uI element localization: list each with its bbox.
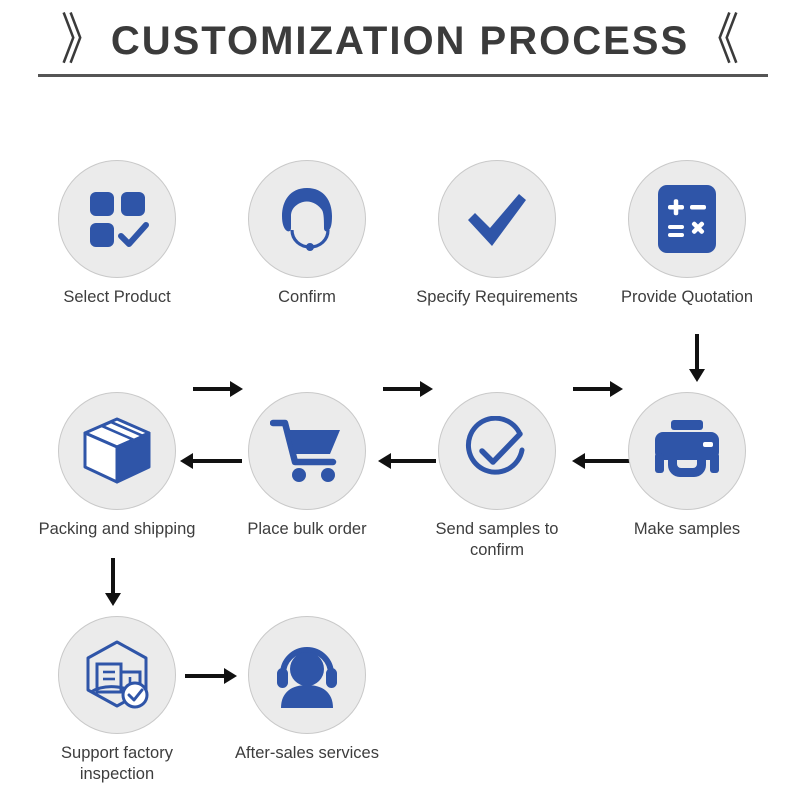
factory-inspection-icon xyxy=(80,639,154,711)
flow-step-send-samples-to-confirm[interactable]: Send samples to confirm xyxy=(412,392,582,561)
flow-step-select-product[interactable]: Select Product xyxy=(32,160,202,308)
flow-step-confirm[interactable]: Confirm xyxy=(222,160,392,308)
support-agent-icon xyxy=(270,182,344,256)
flow-step-place-bulk-order[interactable]: Place bulk order xyxy=(222,392,392,540)
left-chevron-ornament-icon: 》 xyxy=(61,14,105,69)
step-icon-circle xyxy=(248,392,366,510)
step-icon-circle xyxy=(248,160,366,278)
flow-step-label: Make samples xyxy=(602,519,772,540)
flow-step-label: Support factory inspection xyxy=(32,743,202,785)
flow-step-packing-and-shipping[interactable]: Packing and shipping xyxy=(32,392,202,540)
page-title: CUSTOMIZATION PROCESS xyxy=(111,19,689,64)
grid-check-icon xyxy=(84,186,150,252)
flow-step-label: Confirm xyxy=(222,287,392,308)
flow-step-specify-requirements[interactable]: Specify Requirements xyxy=(412,160,582,308)
printer-icon xyxy=(651,419,723,483)
title-divider xyxy=(38,74,768,77)
flow-step-label: Packing and shipping xyxy=(32,519,202,540)
flow-step-label: Select Product xyxy=(32,287,202,308)
flow-step-support-factory-inspection[interactable]: Support factory inspection xyxy=(32,616,202,785)
page-header: 》 CUSTOMIZATION PROCESS 《 xyxy=(0,0,800,92)
flow-step-after-sales-services[interactable]: After-sales services xyxy=(222,616,392,764)
flow-step-label: Send samples to confirm xyxy=(412,519,582,561)
row2-to-row3-connector xyxy=(103,558,123,606)
step-icon-circle xyxy=(438,392,556,510)
step-icon-circle xyxy=(438,160,556,278)
right-chevron-ornament-icon: 《 xyxy=(695,14,739,69)
flow-step-make-samples[interactable]: Make samples xyxy=(602,392,772,540)
package-box-icon xyxy=(80,416,154,486)
title-row: 》 CUSTOMIZATION PROCESS 《 xyxy=(0,12,800,70)
circle-check-icon xyxy=(462,416,532,486)
flow-step-label: After-sales services xyxy=(222,743,392,764)
step-icon-circle xyxy=(248,616,366,734)
row1-to-row2-connector xyxy=(687,334,707,382)
step-icon-circle xyxy=(58,160,176,278)
checkmark-icon xyxy=(462,184,532,254)
flow-step-label: Specify Requirements xyxy=(412,287,582,308)
calculator-icon xyxy=(656,183,718,255)
flow-step-provide-quotation[interactable]: Provide Quotation xyxy=(602,160,772,308)
step-icon-circle xyxy=(58,616,176,734)
step-icon-circle xyxy=(628,160,746,278)
step-icon-circle xyxy=(628,392,746,510)
headset-person-icon xyxy=(271,642,343,708)
step-icon-circle xyxy=(58,392,176,510)
shopping-cart-icon xyxy=(270,418,344,484)
flow-step-label: Provide Quotation xyxy=(602,287,772,308)
flow-step-label: Place bulk order xyxy=(222,519,392,540)
